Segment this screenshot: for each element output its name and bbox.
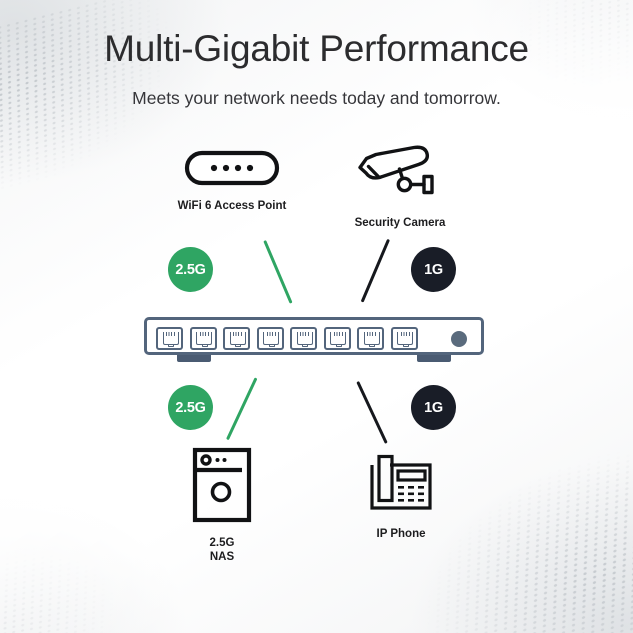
- wifi-access-point-icon: [142, 150, 322, 191]
- device-security-camera: Security Camera: [330, 145, 470, 230]
- link-security-camera: [361, 239, 390, 303]
- switch-port-row: [156, 327, 418, 350]
- infographic-canvas: Multi-Gigabit Performance Meets your net…: [0, 0, 633, 633]
- speed-badge-access-point: 2.5G: [168, 247, 213, 292]
- link-ip-phone: [357, 381, 388, 444]
- rj45-port: [257, 327, 284, 350]
- security-camera-icon: [330, 145, 470, 208]
- switch-foot-left: [177, 355, 211, 362]
- device-nas: 2.5G NAS: [160, 447, 284, 564]
- device-caption: 2.5G NAS: [160, 536, 284, 564]
- ip-phone-icon: [338, 452, 464, 519]
- device-caption: WiFi 6 Access Point: [142, 199, 322, 213]
- rj45-port: [190, 327, 217, 350]
- link-nas: [226, 377, 257, 440]
- page-title: Multi-Gigabit Performance: [0, 28, 633, 70]
- device-caption: IP Phone: [338, 527, 464, 541]
- switch-foot-right: [417, 355, 451, 362]
- device-caption: Security Camera: [330, 216, 470, 230]
- speed-badge-nas: 2.5G: [168, 385, 213, 430]
- status-led-icon: [451, 331, 467, 347]
- rj45-port: [223, 327, 250, 350]
- switch-chassis: [144, 317, 484, 355]
- rj45-port: [324, 327, 351, 350]
- network-switch: [144, 317, 484, 365]
- link-access-point: [263, 240, 292, 304]
- speed-badge-security-camera: 1G: [411, 247, 456, 292]
- rj45-port: [357, 327, 384, 350]
- page-subtitle: Meets your network needs today and tomor…: [0, 88, 633, 109]
- nas-icon: [160, 447, 284, 528]
- halftone-texture-top-right: [456, 0, 633, 159]
- rj45-port: [290, 327, 317, 350]
- rj45-port: [156, 327, 183, 350]
- rj45-port: [391, 327, 418, 350]
- device-ip-phone: IP Phone: [338, 452, 464, 541]
- device-access-point: WiFi 6 Access Point: [142, 150, 322, 213]
- speed-badge-ip-phone: 1G: [411, 385, 456, 430]
- halftone-texture-bottom-left: [0, 477, 181, 633]
